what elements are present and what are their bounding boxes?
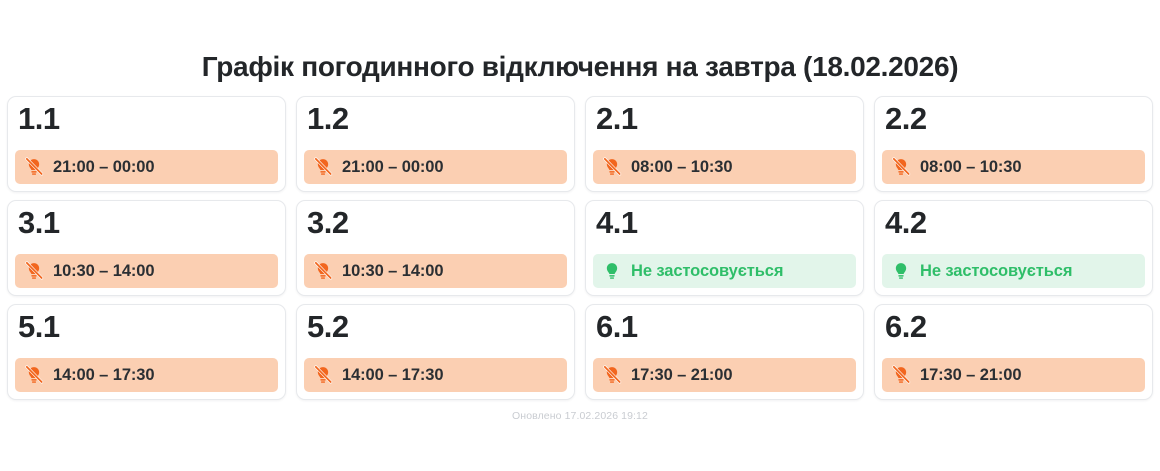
page-title: Графік погодинного відключення на завтра… [0,0,1160,84]
outage-slot: 08:00 – 10:30 [593,150,856,184]
updated-timestamp: Оновлено 17.02.2026 19:12 [0,410,1160,422]
bulb-off-icon [313,365,333,385]
outage-slot: 14:00 – 17:30 [15,358,278,392]
group-label: 4.2 [882,205,1145,241]
outage-time-range: 14:00 – 17:30 [53,366,154,385]
group-card[interactable]: 2.108:00 – 10:30 [585,96,864,192]
outage-time-range: 21:00 – 00:00 [342,158,443,177]
group-card[interactable]: 1.221:00 – 00:00 [296,96,575,192]
group-label: 5.1 [15,309,278,345]
bulb-on-icon [602,261,622,281]
group-card[interactable]: 6.217:30 – 21:00 [874,304,1153,400]
bulb-on-icon [891,261,911,281]
group-card[interactable]: 3.110:30 – 14:00 [7,200,286,296]
outage-time-range: 14:00 – 17:30 [342,366,443,385]
group-card-grid: 1.121:00 – 00:001.221:00 – 00:002.108:00… [0,96,1160,400]
group-label: 5.2 [304,309,567,345]
outage-time-range: 17:30 – 21:00 [631,366,732,385]
outage-time-range: 08:00 – 10:30 [631,158,732,177]
outage-slot: 08:00 – 10:30 [882,150,1145,184]
group-label: 2.2 [882,101,1145,137]
outage-slot: 17:30 – 21:00 [882,358,1145,392]
group-label: 1.2 [304,101,567,137]
bulb-off-icon [313,261,333,281]
outage-schedule-page: Графік погодинного відключення на завтра… [0,0,1160,471]
group-card[interactable]: 5.114:00 – 17:30 [7,304,286,400]
outage-slot: 17:30 – 21:00 [593,358,856,392]
group-label: 6.2 [882,309,1145,345]
group-label: 3.1 [15,205,278,241]
group-label: 4.1 [593,205,856,241]
outage-slot: 10:30 – 14:00 [304,254,567,288]
outage-slot: 10:30 – 14:00 [15,254,278,288]
bulb-off-icon [313,157,333,177]
outage-slot: 21:00 – 00:00 [15,150,278,184]
bulb-off-icon [602,157,622,177]
bulb-off-icon [24,261,44,281]
bulb-off-icon [891,365,911,385]
bulb-off-icon [24,365,44,385]
group-card[interactable]: 3.210:30 – 14:00 [296,200,575,296]
outage-time-range: 21:00 – 00:00 [53,158,154,177]
no-outage-text: Не застосовується [920,262,1072,281]
outage-time-range: 08:00 – 10:30 [920,158,1021,177]
group-card[interactable]: 4.1Не застосовується [585,200,864,296]
no-outage-slot: Не застосовується [882,254,1145,288]
bulb-off-icon [602,365,622,385]
group-card[interactable]: 6.117:30 – 21:00 [585,304,864,400]
group-label: 6.1 [593,309,856,345]
bulb-off-icon [891,157,911,177]
outage-slot: 14:00 – 17:30 [304,358,567,392]
group-card[interactable]: 2.208:00 – 10:30 [874,96,1153,192]
outage-time-range: 10:30 – 14:00 [53,262,154,281]
group-card[interactable]: 1.121:00 – 00:00 [7,96,286,192]
outage-time-range: 10:30 – 14:00 [342,262,443,281]
group-label: 1.1 [15,101,278,137]
no-outage-text: Не застосовується [631,262,783,281]
outage-time-range: 17:30 – 21:00 [920,366,1021,385]
outage-slot: 21:00 – 00:00 [304,150,567,184]
no-outage-slot: Не застосовується [593,254,856,288]
bulb-off-icon [24,157,44,177]
group-card[interactable]: 4.2Не застосовується [874,200,1153,296]
group-card[interactable]: 5.214:00 – 17:30 [296,304,575,400]
group-label: 2.1 [593,101,856,137]
group-label: 3.2 [304,205,567,241]
